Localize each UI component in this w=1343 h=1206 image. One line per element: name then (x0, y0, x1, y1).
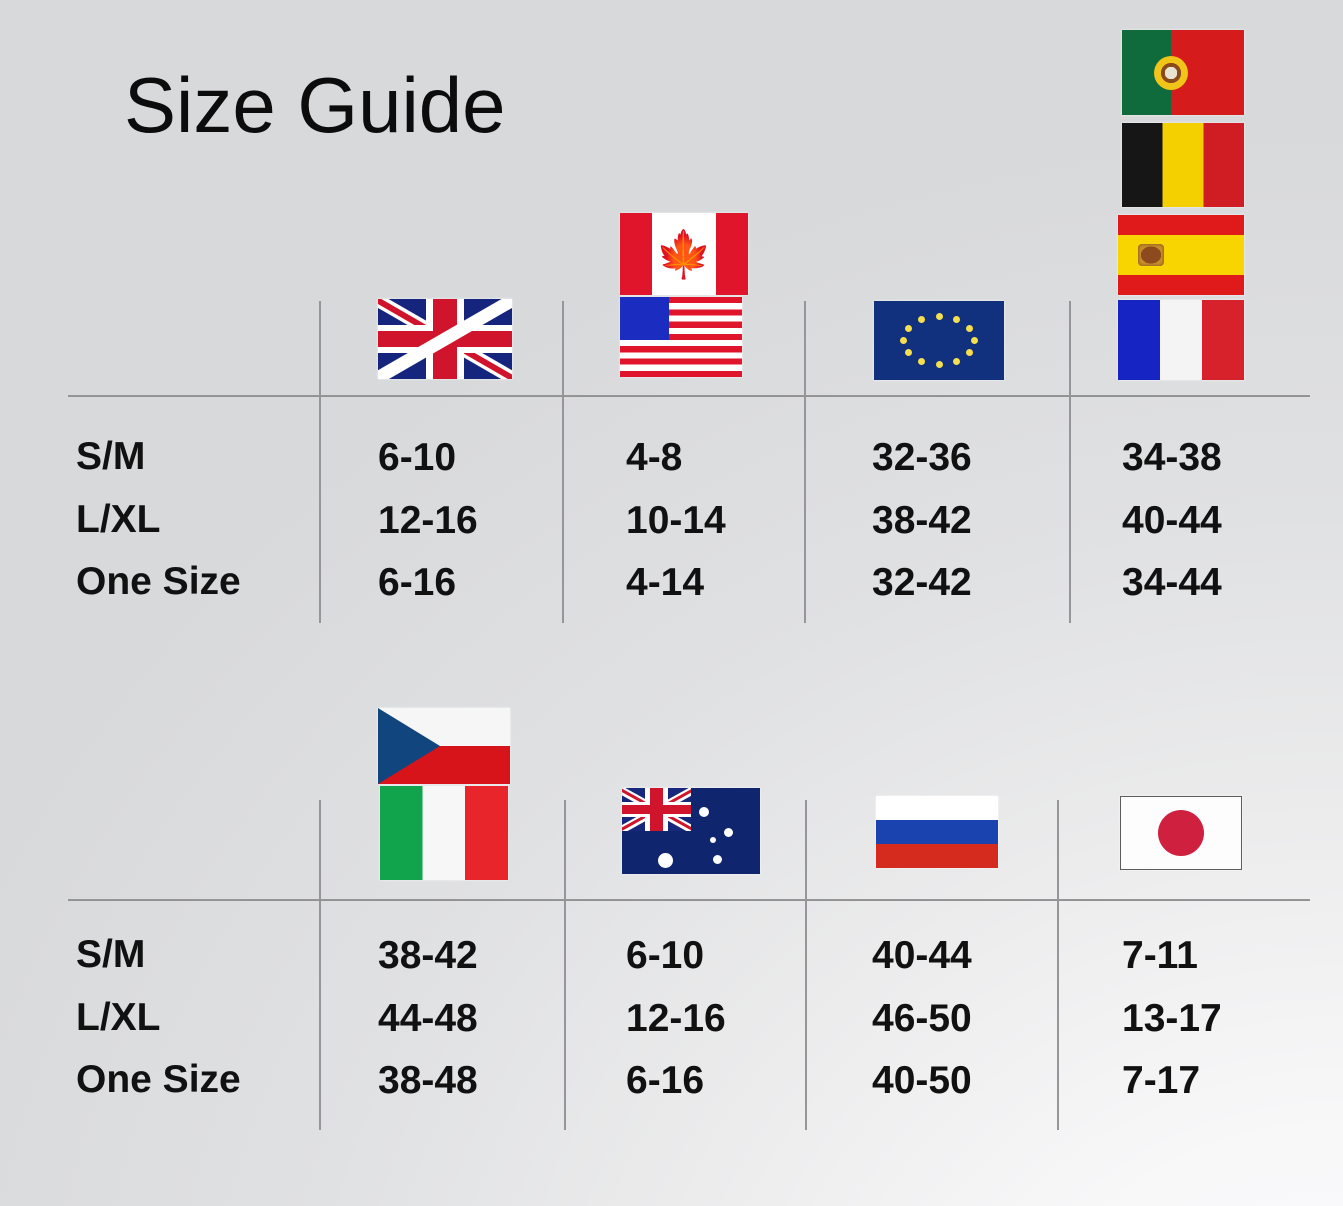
portugal-flag (1122, 30, 1244, 115)
table-cell: 38-42 (378, 936, 478, 975)
table-cell: 12-16 (626, 999, 726, 1038)
table-cell: 13-17 (1122, 999, 1222, 1038)
france-flag (1118, 300, 1244, 380)
table-cell: 44-48 (378, 999, 478, 1038)
row-label: S/M (76, 437, 145, 476)
table-cell: 6-16 (626, 1061, 704, 1100)
czech-flag (378, 708, 510, 784)
table-cell: 6-10 (626, 936, 704, 975)
spain-flag (1118, 215, 1244, 295)
eu-flag (874, 301, 1004, 380)
canada-flag: 🍁 (620, 213, 748, 295)
table-cell: 7-11 (1122, 936, 1198, 975)
belgium-flag (1122, 123, 1244, 207)
table-cell: 7-17 (1122, 1061, 1200, 1100)
header-rule (68, 899, 1310, 901)
australia-flag (622, 788, 760, 874)
column-divider (1057, 800, 1059, 1130)
row-label: L/XL (76, 998, 161, 1037)
table-cell: 46-50 (872, 999, 972, 1038)
header-rule (68, 395, 1310, 397)
table-cell: 38-48 (378, 1061, 478, 1100)
table-cell: 40-50 (872, 1061, 972, 1100)
uk-flag (378, 299, 512, 379)
table-cell: 34-38 (1122, 438, 1222, 477)
column-divider (319, 800, 321, 1130)
italy-flag (380, 786, 508, 880)
usa-flag (620, 297, 742, 377)
table-cell: 6-10 (378, 438, 456, 477)
table-cell: 4-8 (626, 438, 682, 477)
table-cell: 32-36 (872, 438, 972, 477)
row-label: S/M (76, 935, 145, 974)
column-divider (805, 800, 807, 1130)
row-label: One Size (76, 1060, 241, 1099)
column-divider (564, 800, 566, 1130)
size-table-two: S/M L/XL One Size 38-42 44-48 38-48 6-10… (0, 500, 1343, 1160)
russia-flag (876, 796, 998, 868)
japan-flag (1120, 796, 1242, 870)
table-cell: 40-44 (872, 936, 972, 975)
